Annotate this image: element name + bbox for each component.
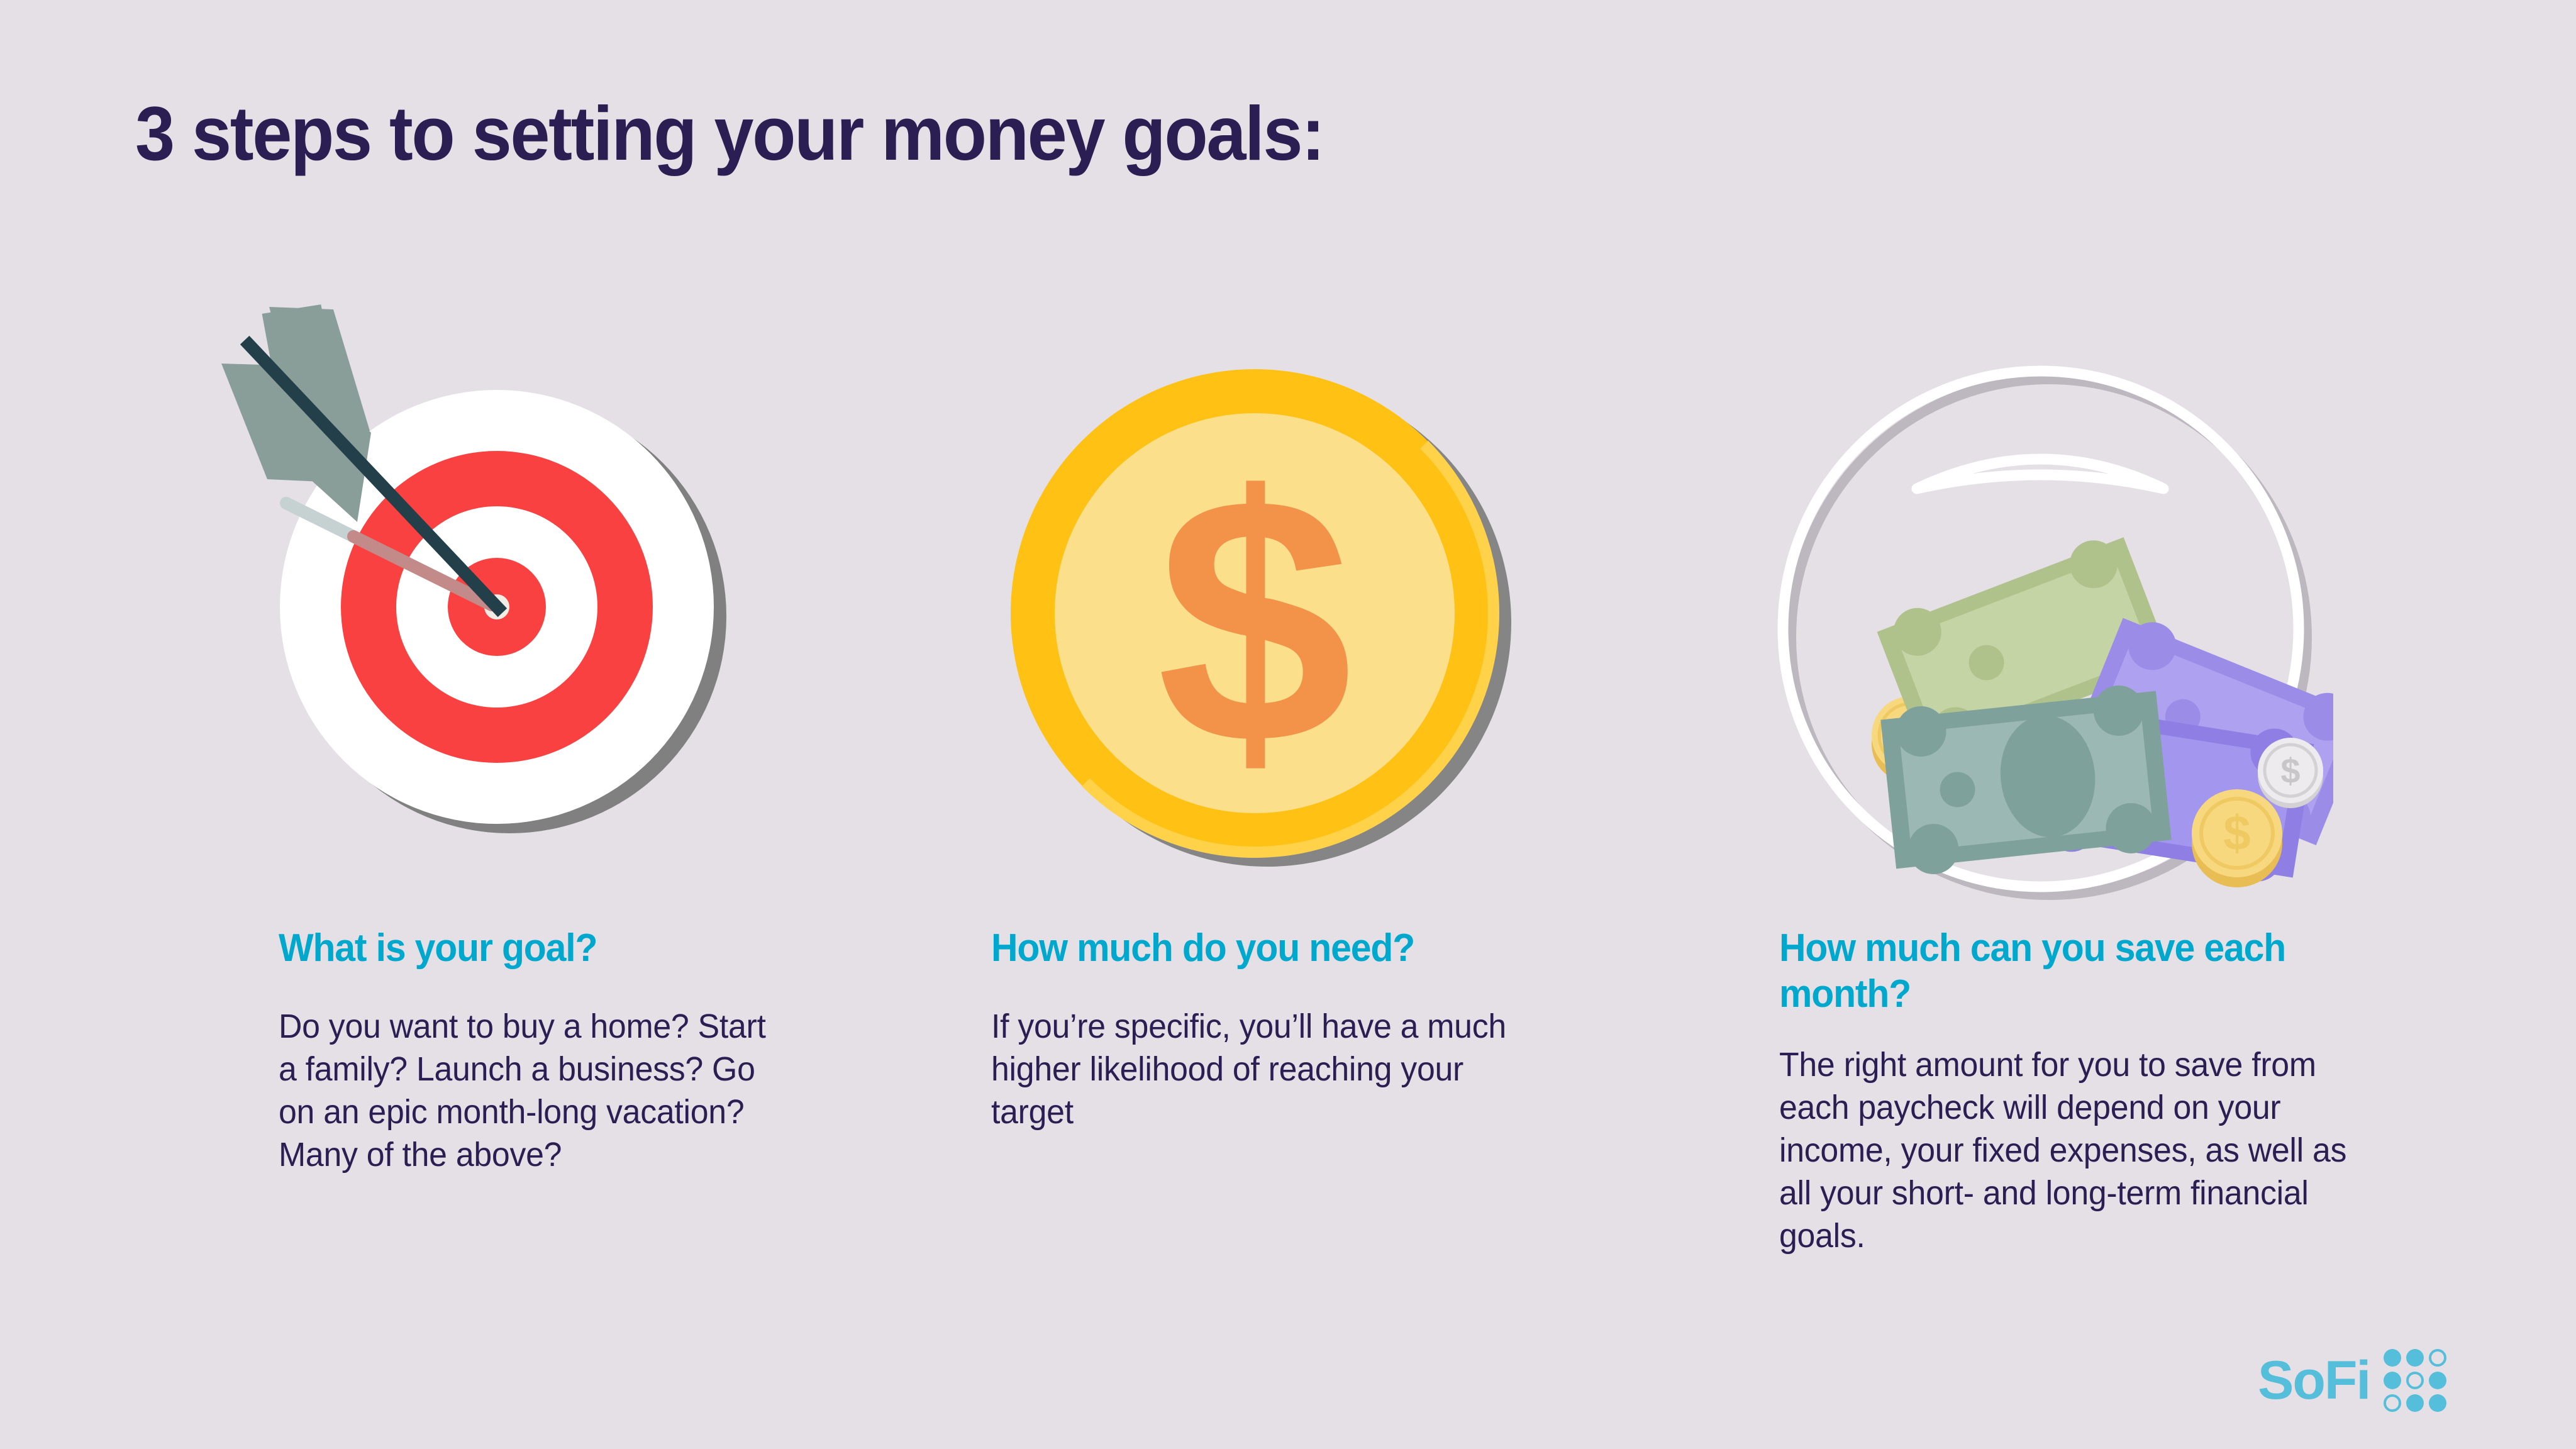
logo-dot-2 (2406, 1349, 2424, 1367)
step-body-3: The right amount for you to save from ea… (1779, 1043, 2377, 1257)
logo-dot-5 (2406, 1372, 2424, 1389)
step-body-2: If you’re specific, you’ll have a much h… (991, 1005, 1523, 1133)
step-column-1: What is your goal? Do you want to buy a … (279, 926, 807, 1176)
step-heading-2: How much do you need? (991, 926, 1517, 972)
money-jar-icon: $ $ (1755, 355, 2333, 909)
page-title: 3 steps to setting your money goals: (135, 89, 1324, 177)
svg-text:$: $ (2223, 805, 2250, 860)
logo-dot-4 (2384, 1372, 2401, 1389)
infographic-canvas: 3 steps to setting your money goals: (0, 0, 2576, 1449)
target-with-arrow-icon (208, 296, 786, 874)
svg-text:$: $ (2280, 751, 2300, 791)
svg-text:$: $ (1157, 423, 1352, 817)
sofi-logo: SoFi (2258, 1349, 2446, 1412)
step-column-2: How much do you need? If you’re specific… (991, 926, 1545, 1133)
logo-dot-8 (2406, 1394, 2424, 1412)
step-heading-3: How much can you save each month? (1779, 926, 2371, 1017)
sofi-wordmark: SoFi (2258, 1353, 2370, 1407)
logo-dot-7 (2384, 1394, 2401, 1412)
logo-dot-9 (2429, 1394, 2446, 1412)
step-heading-1: What is your goal? (279, 926, 780, 972)
logo-dot-3 (2429, 1349, 2446, 1367)
logo-dot-6 (2429, 1372, 2446, 1389)
logo-dot-1 (2384, 1349, 2401, 1367)
sofi-dot-grid-icon (2384, 1349, 2446, 1412)
step-column-3: How much can you save each month? The ri… (1779, 926, 2402, 1257)
step-body-1: Do you want to buy a home? Start a famil… (279, 1005, 786, 1176)
gold-dollar-coin-icon: $ (991, 352, 1519, 880)
